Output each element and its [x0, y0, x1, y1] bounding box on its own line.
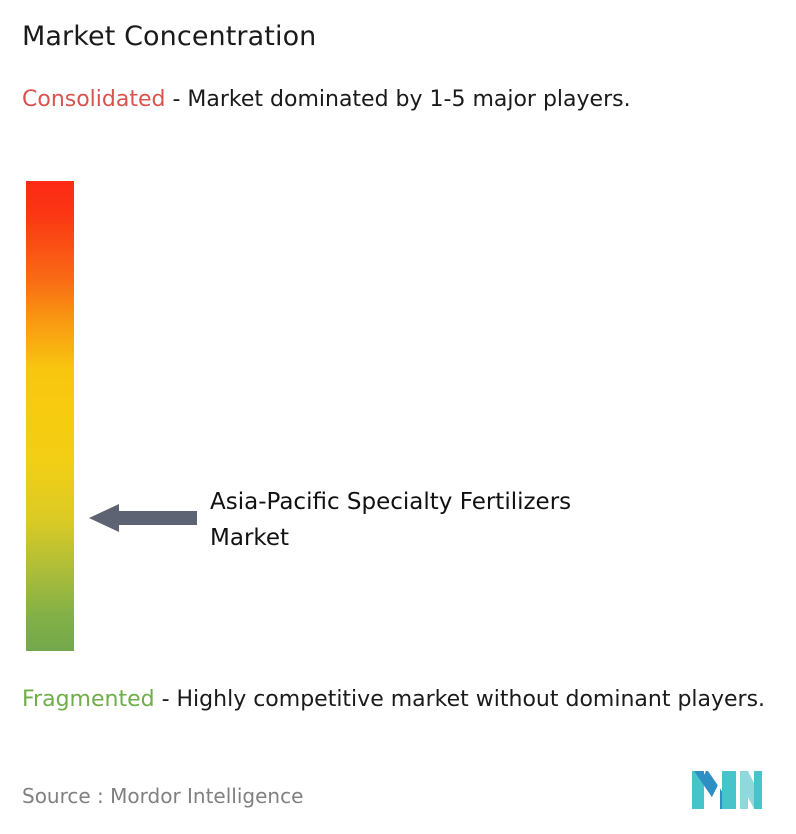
callout-arrow-icon — [89, 503, 197, 533]
legend-fragmented: Fragmented - Highly competitive market w… — [22, 684, 790, 715]
legend-term-fragmented: Fragmented — [22, 687, 155, 712]
mordor-intelligence-logo-icon — [690, 771, 764, 809]
concentration-gradient-bar — [26, 181, 74, 651]
callout-label: Asia-Pacific Specialty Fertilizers Marke… — [210, 484, 610, 556]
legend-term-consolidated: Consolidated — [22, 87, 165, 112]
source-attribution: Source : Mordor Intelligence — [22, 783, 303, 809]
page-title: Market Concentration — [22, 20, 316, 54]
legend-consolidated: Consolidated - Market dominated by 1-5 m… — [22, 84, 778, 115]
legend-description-consolidated: - Market dominated by 1-5 major players. — [165, 87, 630, 112]
legend-description-fragmented: - Highly competitive market without domi… — [155, 687, 765, 712]
